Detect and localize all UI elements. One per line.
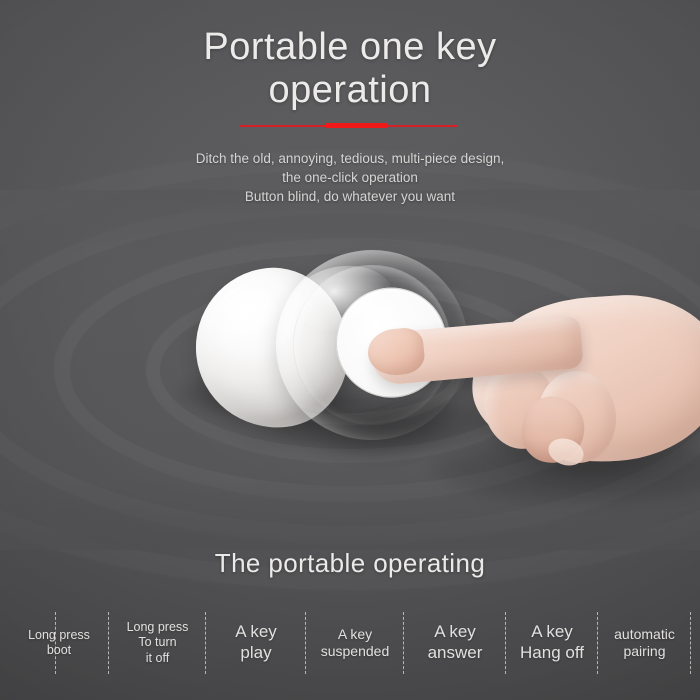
feature-divider bbox=[690, 612, 691, 674]
subtitle-line-1: Ditch the old, annoying, tedious, multi-… bbox=[0, 149, 700, 168]
feature-divider bbox=[108, 612, 109, 674]
feature-line-2: play bbox=[235, 643, 277, 664]
promo-banner: Portable one key operation Ditch the old… bbox=[0, 0, 700, 700]
feature-item-key-suspended[interactable]: A key suspended bbox=[307, 610, 403, 676]
section-title: The portable operating bbox=[0, 548, 700, 579]
feature-item-automatic-pairing[interactable]: automatic pairing bbox=[599, 610, 690, 676]
accent-rule bbox=[0, 121, 700, 131]
feature-list: Long press boot Long press To turn it of… bbox=[0, 610, 700, 676]
feature-line-1: automatic bbox=[614, 626, 675, 643]
feature-line-1: A key bbox=[520, 622, 584, 643]
feature-line-3: it off bbox=[127, 651, 189, 666]
feature-divider bbox=[505, 612, 506, 674]
title-line-1: Portable one key bbox=[203, 26, 496, 68]
feature-line-2: To turn bbox=[127, 635, 189, 650]
feature-item-key-play[interactable]: A key play bbox=[207, 610, 305, 676]
hand-pressing-button bbox=[372, 267, 700, 482]
feature-line-2: boot bbox=[28, 643, 90, 658]
feature-item-long-press-boot[interactable]: Long press boot bbox=[10, 610, 108, 676]
accent-rule-thick bbox=[325, 123, 387, 128]
feature-divider bbox=[403, 612, 404, 674]
subtitle: Ditch the old, annoying, tedious, multi-… bbox=[0, 149, 700, 206]
header: Portable one key operation Ditch the old… bbox=[0, 28, 700, 206]
feature-line-2: pairing bbox=[614, 643, 675, 660]
feature-line-1: Long press bbox=[127, 620, 189, 635]
feature-divider bbox=[597, 612, 598, 674]
feature-item-key-answer[interactable]: A key answer bbox=[405, 610, 505, 676]
product-stage bbox=[0, 215, 700, 535]
feature-line-2: answer bbox=[428, 643, 483, 664]
feature-divider bbox=[205, 612, 206, 674]
title-line-2: operation bbox=[0, 71, 700, 109]
feature-line-1: A key bbox=[235, 622, 277, 643]
feature-item-key-hang-off[interactable]: A key Hang off bbox=[507, 610, 597, 676]
feature-line-1: A key bbox=[321, 626, 390, 643]
feature-line-2: suspended bbox=[321, 643, 390, 660]
feature-line-2: Hang off bbox=[520, 643, 584, 664]
page-title: Portable one key operation bbox=[0, 28, 700, 109]
subtitle-line-3: Button blind, do whatever you want bbox=[0, 187, 700, 206]
feature-item-long-press-off[interactable]: Long press To turn it off bbox=[110, 610, 205, 676]
feature-line-1: A key bbox=[428, 622, 483, 643]
subtitle-line-2: the one-click operation bbox=[0, 168, 700, 187]
feature-divider bbox=[305, 612, 306, 674]
feature-line-1: Long press bbox=[28, 628, 90, 643]
